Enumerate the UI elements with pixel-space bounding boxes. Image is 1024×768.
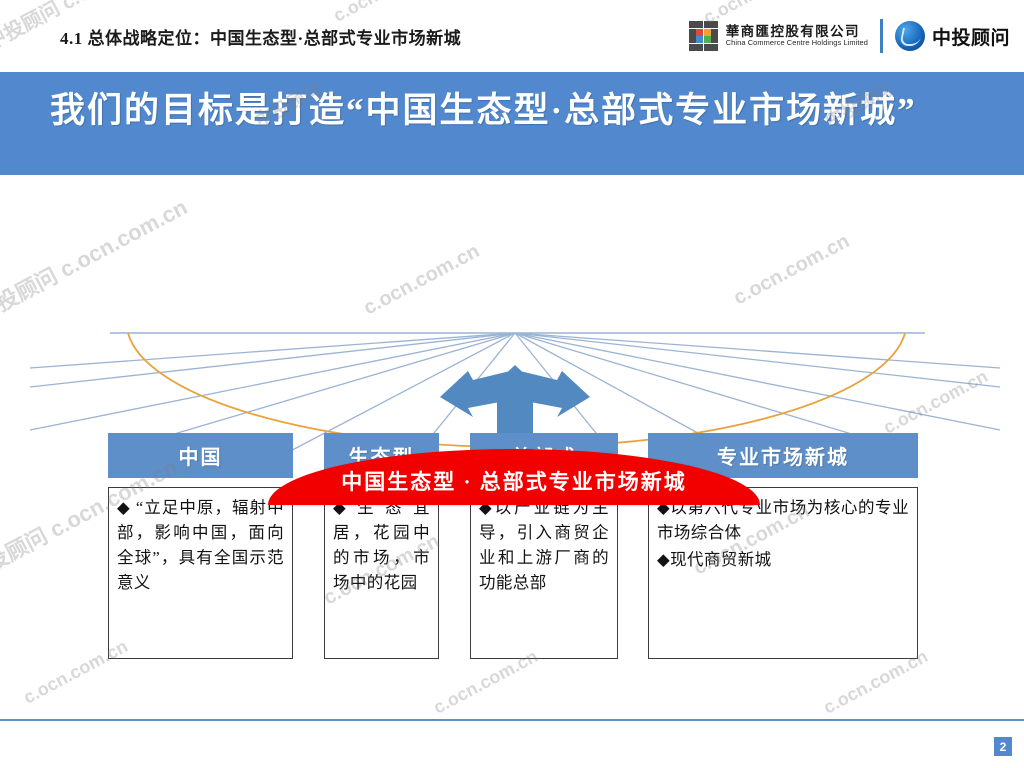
hcc-grid-icon: [689, 21, 719, 51]
pillar-body-ecological: ◆生态宜居，花园中的市场，市场中的花园: [324, 487, 439, 659]
logo-area: 華商匯控股有限公司 China Commerce Centre Holdings…: [689, 14, 1010, 58]
hcc-grid-cell: [711, 36, 718, 43]
dome-label: 中国生态型 · 总部式专业市场新城: [268, 466, 760, 496]
hcc-names: 華商匯控股有限公司 China Commerce Centre Holdings…: [726, 25, 868, 47]
hcc-grid-cell: [689, 44, 696, 51]
slide-title-banner: 我们的目标是打造“中国生态型·总部式专业市场新城”: [0, 72, 1024, 175]
pillar-line: ◆生态宜居，花园中的市场，市场中的花园: [333, 495, 430, 595]
hcc-grid-cell: [704, 29, 711, 36]
pillar-header-china: 中国: [108, 433, 293, 478]
section-title: 4.1 总体战略定位：中国生态型·总部式专业市场新城: [60, 24, 461, 49]
slide-title: 我们的目标是打造“中国生态型·总部式专业市场新城”: [50, 82, 917, 133]
zhitou-logo: 中投顾问: [895, 21, 1010, 51]
hcc-logo: 華商匯控股有限公司 China Commerce Centre Holdings…: [689, 21, 868, 51]
logo-divider: [880, 19, 883, 53]
zhitou-circle-icon: [895, 21, 925, 51]
hcc-grid-cell: [696, 21, 703, 28]
hcc-grid-cell: [696, 36, 703, 43]
hcc-grid-cell: [711, 29, 718, 36]
slide-header: 4.1 总体战略定位：中国生态型·总部式专业市场新城 華商匯控股有限公司 Chi…: [0, 0, 1024, 72]
page-number-badge: 2: [994, 737, 1012, 756]
hcc-grid-cell: [696, 29, 703, 36]
pillar-line: ◆现代商贸新城: [657, 547, 909, 572]
zhitou-name: 中投顾问: [932, 23, 1010, 50]
pillar-body-china: ◆ “立足中原，辐射中部，影响中国，面向全球”，具有全国示范意义: [108, 487, 293, 659]
hcc-grid-cell: [689, 21, 696, 28]
hcc-grid-cell: [689, 36, 696, 43]
hcc-grid-cell: [696, 44, 703, 51]
pillar-body-market-new-city: ◆以第六代专业市场为核心的专业市场综合体 ◆现代商贸新城: [648, 487, 918, 659]
hcc-grid-cell: [704, 21, 711, 28]
hcc-grid-cell: [711, 44, 718, 51]
footer-rule: [0, 719, 1024, 721]
hcc-name-en: China Commerce Centre Holdings Limited: [726, 39, 868, 47]
pillar-china: 中国 ◆ “立足中原，辐射中部，影响中国，面向全球”，具有全国示范意义: [108, 433, 293, 659]
pillar-line: ◆ “立足中原，辐射中部，影响中国，面向全球”，具有全国示范意义: [117, 495, 284, 595]
pillar-body-headquarters: ◆以产业链为主导，引入商贸企业和上游厂商的功能总部: [470, 487, 618, 659]
diagram-stage: 中国生态型 · 总部式专业市场新城 中国 ◆ “立足中原，辐射中部，影响中国，面…: [0, 175, 1024, 695]
pillar-group: 中国 ◆ “立足中原，辐射中部，影响中国，面向全球”，具有全国示范意义 生态型 …: [0, 175, 1024, 695]
hcc-grid-cell: [704, 44, 711, 51]
hcc-grid-cell: [704, 36, 711, 43]
hcc-grid-cell: [689, 29, 696, 36]
pillar-line: ◆以产业链为主导，引入商贸企业和上游厂商的功能总部: [479, 495, 609, 595]
hcc-name-cn: 華商匯控股有限公司: [726, 25, 868, 39]
hcc-grid-cell: [711, 21, 718, 28]
